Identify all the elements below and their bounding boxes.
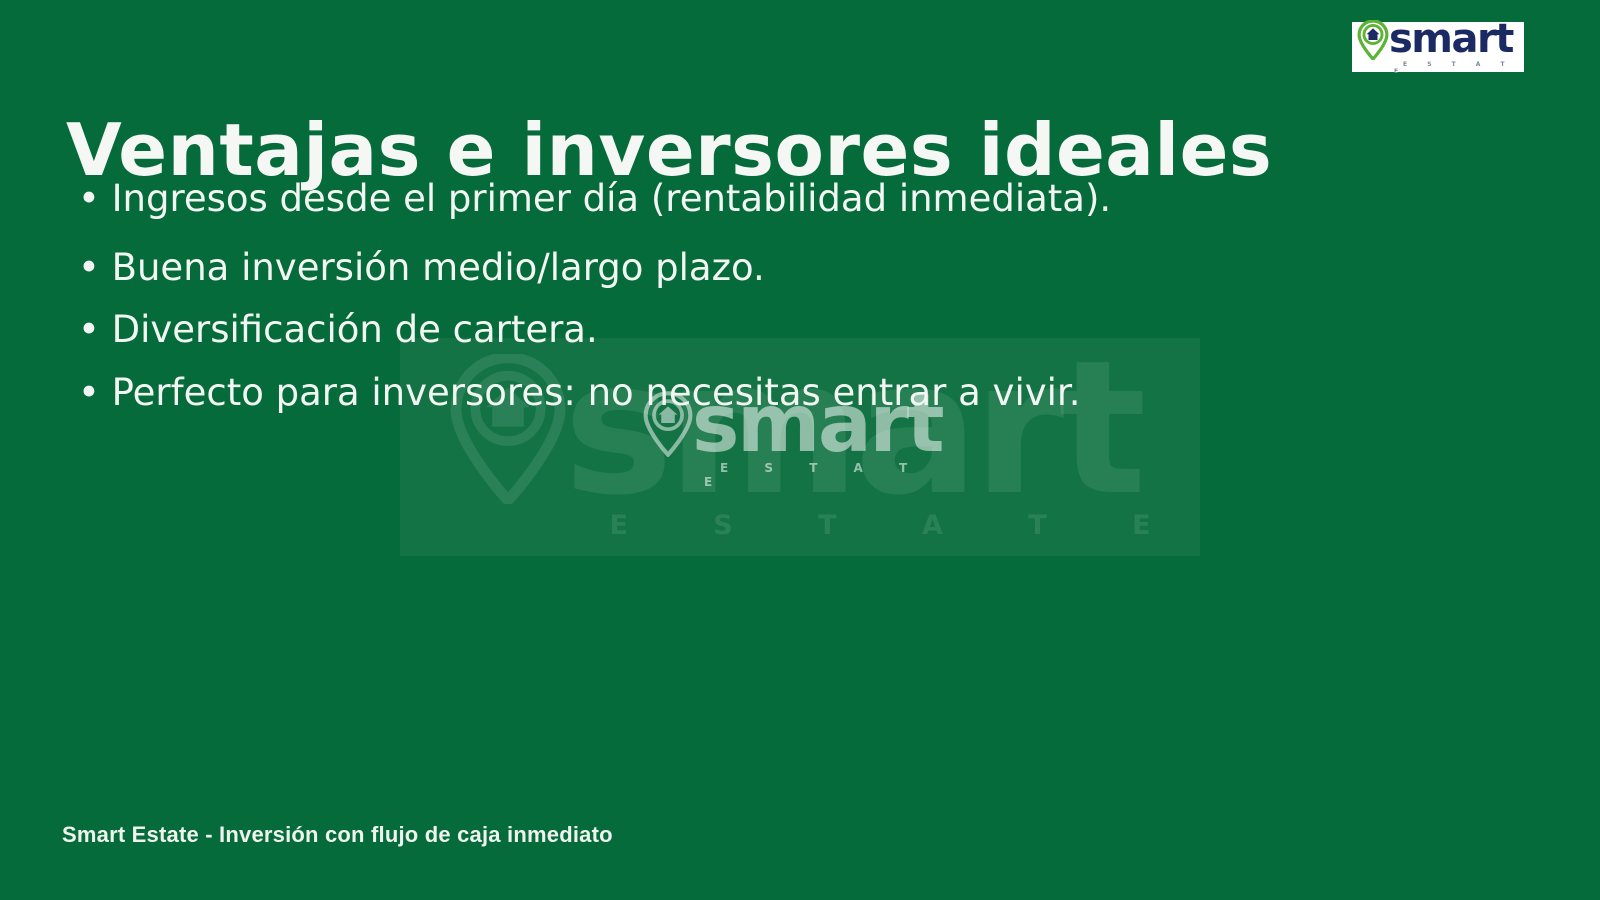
slide-canvas: smart E S T A T E smart E S T A T E smar… [0,0,1600,900]
bullet-text: Ingresos desde el primer día (rentabilid… [112,177,1112,220]
watermark-small-tagline: E S T A T E [704,461,942,489]
bullet-text: Buena inversión medio/largo plazo. [112,246,765,289]
bullet-text: Diversificación de cartera. [112,308,598,351]
map-pin-icon [1356,20,1390,60]
page-title: Ventajas e inversores ideales [66,114,1466,186]
bullet-marker: • [78,177,100,220]
brand-logo-row: smart [1356,20,1520,60]
brand-logo-tagline: E S T A T E [1394,61,1520,75]
bullet-list: • Ingresos desde el primer día (rentabil… [78,178,1198,414]
watermark-large-tagline: E S T A T E [571,510,1188,541]
bullet-marker: • [78,371,100,414]
slide-footer: Smart Estate - Inversión con flujo de ca… [62,822,613,848]
brand-logo: smart E S T A T E [1352,22,1524,72]
bullet-marker: • [78,308,100,351]
list-item: • Perfecto para inversores: no necesitas… [78,372,1198,415]
list-item: • Ingresos desde el primer día (rentabil… [78,178,1198,221]
brand-logo-wordmark: smart [1389,23,1513,56]
bullet-text: Perfecto para inversores: no necesitas e… [112,371,1081,414]
list-item: • Diversificación de cartera. [78,309,1198,352]
bullet-marker: • [78,246,100,289]
list-item: • Buena inversión medio/largo plazo. [78,247,1198,290]
